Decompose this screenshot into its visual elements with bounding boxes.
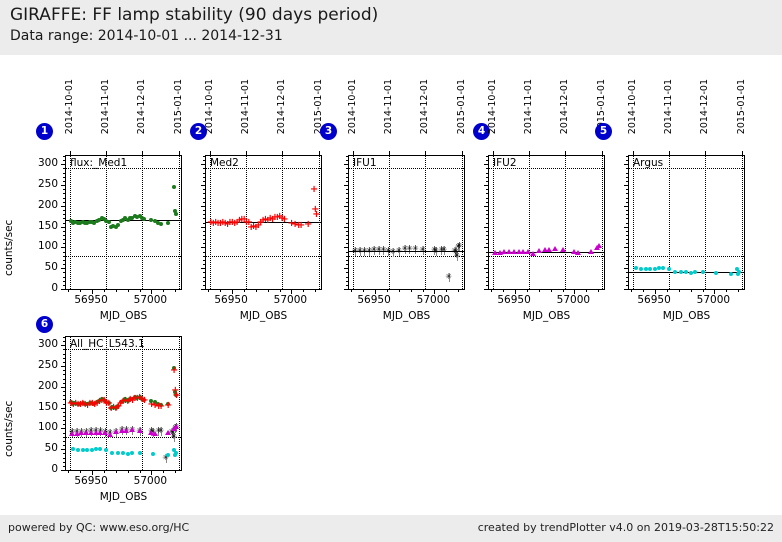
axis-minor-tick: [63, 408, 65, 409]
axis-minor-tick: [486, 260, 488, 261]
axis-minor-tick: [63, 416, 65, 417]
panel-badge-5[interactable]: 5: [595, 123, 612, 140]
value-gridline: [66, 437, 181, 438]
axis-minor-tick: [163, 471, 164, 473]
axis-minor-tick: [346, 185, 348, 186]
axis-minor-tick: [203, 168, 205, 169]
axis-minor-tick: [63, 181, 65, 182]
axis-minor-tick: [626, 223, 628, 224]
axis-minor-tick: [63, 156, 65, 157]
axis-minor-tick: [527, 290, 528, 292]
plot-label: Argus: [633, 157, 663, 169]
axis-minor-tick: [63, 441, 65, 442]
axis-minor-tick: [80, 290, 81, 292]
axis-minor-tick: [203, 243, 205, 244]
data-point: [166, 221, 170, 225]
date-gridline: [529, 156, 530, 289]
axis-minor-tick: [346, 206, 348, 207]
axis-minor-tick: [104, 290, 105, 292]
axis-minor-tick: [486, 193, 488, 194]
axis-minor-tick: [626, 260, 628, 261]
data-point: [639, 267, 643, 271]
axis-minor-tick: [315, 290, 316, 292]
axis-minor-tick: [163, 290, 164, 292]
date-gridline: [389, 156, 390, 289]
axis-tick: [425, 151, 426, 155]
date-gridline: [179, 156, 180, 289]
axis-minor-tick: [63, 198, 65, 199]
data-point: [138, 451, 142, 455]
axis-minor-tick: [626, 272, 628, 273]
y-tick-label: 300: [25, 338, 58, 350]
axis-minor-tick: [626, 239, 628, 240]
date-gridline: [705, 156, 706, 289]
axis-minor-tick: [486, 281, 488, 282]
data-point: [110, 451, 114, 455]
data-point: ✳: [170, 433, 178, 441]
axis-minor-tick: [92, 471, 93, 473]
x-tick-label: 56950: [206, 294, 256, 306]
data-point: [81, 448, 85, 452]
axis-minor-tick: [203, 281, 205, 282]
axis-minor-tick: [203, 202, 205, 203]
axis-minor-tick: [63, 231, 65, 232]
data-point: [151, 452, 155, 456]
axis-minor-tick: [203, 260, 205, 261]
axis-minor-tick: [346, 277, 348, 278]
axis-minor-tick: [63, 449, 65, 450]
axis-minor-tick: [63, 466, 65, 467]
axis-minor-tick: [63, 399, 65, 400]
axis-minor-tick: [63, 341, 65, 342]
date-gridline: [565, 156, 566, 289]
axis-minor-tick: [63, 404, 65, 405]
axis-minor-tick: [346, 289, 348, 290]
axis-minor-tick: [346, 260, 348, 261]
axis-minor-tick: [346, 198, 348, 199]
axis-minor-tick: [63, 285, 65, 286]
axis-minor-tick: [346, 189, 348, 190]
value-gridline: [206, 256, 321, 257]
axis-minor-tick: [63, 168, 65, 169]
x-tick-label: 57000: [408, 294, 458, 306]
axis-tick: [70, 151, 71, 155]
axis-minor-tick: [63, 247, 65, 248]
axis-minor-tick: [486, 189, 488, 190]
date-tick-label: 2014-12-01: [419, 79, 430, 134]
axis-minor-tick: [346, 264, 348, 265]
plot-area-Argus[interactable]: Argus: [628, 155, 745, 290]
y-tick-label: 250: [25, 178, 58, 190]
x-tick-label: 57000: [125, 294, 175, 306]
axis-minor-tick: [280, 290, 281, 292]
data-point: [575, 250, 581, 255]
date-tick-label: 2014-10-01: [347, 79, 358, 134]
data-point: [85, 448, 89, 452]
y-tick-label: 100: [25, 240, 58, 252]
axis-minor-tick: [63, 227, 65, 228]
data-point: ✳: [455, 242, 463, 250]
axis-minor-tick: [631, 290, 632, 292]
axis-minor-tick: [626, 218, 628, 219]
y-tick-label: 150: [25, 401, 58, 413]
axis-minor-tick: [346, 210, 348, 211]
date-gridline: [742, 156, 743, 289]
date-tick-label: 2014-10-01: [487, 79, 498, 134]
axis-minor-tick: [626, 281, 628, 282]
axis-minor-tick: [486, 231, 488, 232]
axis-minor-tick: [63, 264, 65, 265]
axis-minor-tick: [291, 290, 292, 292]
axis-minor-tick: [63, 366, 65, 367]
data-point: [701, 270, 705, 274]
data-point: +: [172, 392, 180, 400]
axis-minor-tick: [63, 277, 65, 278]
axis-minor-tick: [63, 383, 65, 384]
plot-label: flux:_Med1: [70, 157, 127, 169]
axis-minor-tick: [346, 177, 348, 178]
y-tick-label: 250: [25, 359, 58, 371]
axis-minor-tick: [586, 290, 587, 292]
axis-tick: [602, 151, 603, 155]
axis-minor-tick: [63, 470, 65, 471]
axis-minor-tick: [68, 290, 69, 292]
axis-minor-tick: [203, 193, 205, 194]
plot-label: IFU1: [353, 157, 377, 169]
axis-minor-tick: [626, 289, 628, 290]
data-point: [173, 424, 179, 429]
axis-minor-tick: [63, 173, 65, 174]
axis-minor-tick: [104, 471, 105, 473]
axis-minor-tick: [626, 173, 628, 174]
axis-minor-tick: [63, 395, 65, 396]
axis-minor-tick: [486, 206, 488, 207]
x-tick-label: 56950: [489, 294, 539, 306]
axis-minor-tick: [626, 227, 628, 228]
plot-label: IFU2: [493, 157, 517, 169]
axis-minor-tick: [346, 281, 348, 282]
axis-minor-tick: [63, 370, 65, 371]
axis-minor-tick: [486, 227, 488, 228]
date-tick-label: 2014-11-01: [240, 79, 251, 134]
axis-minor-tick: [203, 185, 205, 186]
axis-minor-tick: [346, 202, 348, 203]
y-tick-label: 0: [25, 463, 58, 475]
axis-minor-tick: [63, 420, 65, 421]
axis-tick: [353, 151, 354, 155]
axis-minor-tick: [63, 210, 65, 211]
date-gridline: [462, 156, 463, 289]
value-gridline: [629, 256, 744, 257]
data-point: [71, 447, 75, 451]
axis-minor-tick: [667, 290, 668, 292]
axis-minor-tick: [63, 260, 65, 261]
axis-minor-tick: [551, 290, 552, 292]
data-point: [126, 452, 130, 456]
axis-minor-tick: [63, 239, 65, 240]
axis-minor-tick: [486, 247, 488, 248]
axis-minor-tick: [626, 252, 628, 253]
x-axis-title: MJD_OBS: [618, 310, 755, 322]
plot-label: All_HC_L543.1: [70, 338, 145, 350]
panel-badge-6[interactable]: 6: [36, 316, 53, 333]
axis-minor-tick: [486, 285, 488, 286]
axis-minor-tick: [375, 290, 376, 292]
axis-minor-tick: [63, 223, 65, 224]
data-point: [98, 447, 102, 451]
axis-minor-tick: [203, 277, 205, 278]
date-gridline: [425, 156, 426, 289]
axis-minor-tick: [63, 391, 65, 392]
data-point: [552, 246, 558, 251]
data-point: [104, 448, 108, 452]
axis-minor-tick: [63, 424, 65, 425]
axis-minor-tick: [203, 218, 205, 219]
axis-minor-tick: [626, 277, 628, 278]
axis-minor-tick: [203, 156, 205, 157]
axis-minor-tick: [63, 272, 65, 273]
y-axis-title: counts/sec: [3, 173, 15, 276]
plot-area-IFU1[interactable]: IFU1✳✳✳✳✳✳✳✳✳✳✳✳✳✳✳✳✳✳✳✳✳✳✳✳: [348, 155, 465, 290]
axis-minor-tick: [486, 218, 488, 219]
axis-minor-tick: [63, 453, 65, 454]
x-tick-label: 57000: [265, 294, 315, 306]
axis-minor-tick: [63, 362, 65, 363]
axis-minor-tick: [203, 189, 205, 190]
axis-tick: [246, 151, 247, 155]
axis-minor-tick: [486, 168, 488, 169]
axis-minor-tick: [626, 193, 628, 194]
axis-minor-tick: [63, 256, 65, 257]
data-point: [648, 267, 652, 271]
date-tick-label: 2014-12-01: [559, 79, 570, 134]
axis-minor-tick: [714, 290, 715, 292]
axis-minor-tick: [63, 206, 65, 207]
data-point: [657, 266, 661, 270]
data-point: [684, 270, 688, 274]
axis-minor-tick: [63, 268, 65, 269]
axis-minor-tick: [515, 290, 516, 292]
axis-minor-tick: [486, 268, 488, 269]
data-point: [714, 271, 718, 275]
axis-minor-tick: [63, 177, 65, 178]
axis-minor-tick: [626, 181, 628, 182]
y-tick-label: 0: [25, 282, 58, 294]
data-point: [644, 267, 648, 271]
axis-minor-tick: [598, 290, 599, 292]
data-point: [116, 451, 120, 455]
axis-minor-tick: [63, 214, 65, 215]
axis-minor-tick: [256, 290, 257, 292]
axis-minor-tick: [151, 471, 152, 473]
data-point: [152, 431, 158, 436]
y-tick-label: 300: [25, 157, 58, 169]
axis-minor-tick: [679, 290, 680, 292]
axis-minor-tick: [128, 290, 129, 292]
plot-area-flux:_Med1[interactable]: flux:_Med1: [65, 155, 182, 290]
page-subtitle: Data range: 2014-10-01 ... 2014-12-31: [10, 28, 283, 44]
axis-minor-tick: [346, 173, 348, 174]
data-point: [172, 185, 176, 189]
axis-minor-tick: [486, 202, 488, 203]
axis-minor-tick: [303, 290, 304, 292]
axis-tick: [462, 151, 463, 155]
data-point: [166, 453, 170, 457]
data-point: [137, 428, 143, 433]
axis-minor-tick: [486, 181, 488, 182]
axis-minor-tick: [434, 290, 435, 292]
axis-tick: [705, 151, 706, 155]
axis-minor-tick: [486, 277, 488, 278]
axis-minor-tick: [116, 471, 117, 473]
axis-minor-tick: [626, 268, 628, 269]
footer-credit-right: created by trendPlotter v4.0 on 2019-03-…: [478, 521, 774, 534]
axis-tick: [282, 151, 283, 155]
axis-minor-tick: [63, 433, 65, 434]
axis-minor-tick: [63, 374, 65, 375]
data-point: [76, 448, 80, 452]
axis-minor-tick: [486, 272, 488, 273]
x-tick-label: 56950: [629, 294, 679, 306]
axis-minor-tick: [63, 387, 65, 388]
axis-minor-tick: [643, 290, 644, 292]
axis-minor-tick: [203, 181, 205, 182]
x-tick-label: 57000: [548, 294, 598, 306]
axis-minor-tick: [346, 247, 348, 248]
axis-minor-tick: [346, 223, 348, 224]
data-point: ✳: [445, 273, 453, 281]
x-axis-title: MJD_OBS: [55, 310, 192, 322]
date-tick-label: 2014-11-01: [100, 79, 111, 134]
data-point: [679, 270, 683, 274]
axis-minor-tick: [486, 264, 488, 265]
axis-minor-tick: [63, 189, 65, 190]
x-tick-label: 56950: [66, 475, 116, 487]
date-tick-label: 2015-01-01: [173, 79, 184, 134]
axis-minor-tick: [203, 247, 205, 248]
y-tick-label: 50: [25, 442, 58, 454]
axis-tick: [179, 151, 180, 155]
plot-area-All_HC_L543.1[interactable]: All_HC_L543.1+++++++++++++++++++++++++++…: [65, 336, 182, 471]
axis-minor-tick: [203, 256, 205, 257]
date-tick-label: 2014-12-01: [699, 79, 710, 134]
axis-minor-tick: [626, 210, 628, 211]
axis-minor-tick: [346, 156, 348, 157]
date-tick-label: 2015-01-01: [736, 79, 747, 134]
date-gridline: [602, 156, 603, 289]
axis-minor-tick: [539, 290, 540, 292]
axis-minor-tick: [486, 198, 488, 199]
axis-tick: [565, 151, 566, 155]
axis-minor-tick: [655, 290, 656, 292]
axis-minor-tick: [626, 189, 628, 190]
axis-minor-tick: [346, 181, 348, 182]
x-axis-title: MJD_OBS: [478, 310, 615, 322]
axis-minor-tick: [63, 202, 65, 203]
axis-minor-tick: [63, 160, 65, 161]
x-tick-label: 56950: [66, 294, 116, 306]
axis-minor-tick: [626, 202, 628, 203]
axis-minor-tick: [446, 290, 447, 292]
axis-tick: [529, 151, 530, 155]
plot-area-IFU2[interactable]: IFU2: [488, 155, 605, 290]
axis-minor-tick: [563, 290, 564, 292]
data-point: ✳: [453, 252, 461, 260]
axis-minor-tick: [346, 160, 348, 161]
panel-badge-1[interactable]: 1: [36, 123, 53, 140]
axis-minor-tick: [175, 471, 176, 473]
axis-minor-tick: [626, 185, 628, 186]
axis-minor-tick: [63, 235, 65, 236]
date-tick-label: 2014-10-01: [64, 79, 75, 134]
axis-tick: [319, 151, 320, 155]
axis-minor-tick: [63, 185, 65, 186]
axis-minor-tick: [346, 268, 348, 269]
axis-minor-tick: [203, 285, 205, 286]
data-point: +: [170, 367, 178, 375]
axis-minor-tick: [626, 235, 628, 236]
axis-minor-tick: [626, 160, 628, 161]
axis-minor-tick: [140, 290, 141, 292]
axis-minor-tick: [486, 160, 488, 161]
axis-minor-tick: [351, 290, 352, 292]
axis-minor-tick: [128, 471, 129, 473]
data-point: [689, 271, 693, 275]
axis-minor-tick: [486, 185, 488, 186]
axis-minor-tick: [726, 290, 727, 292]
axis-minor-tick: [486, 235, 488, 236]
data-point: +: [312, 211, 320, 219]
axis-minor-tick: [203, 210, 205, 211]
axis-minor-tick: [486, 156, 488, 157]
axis-minor-tick: [458, 290, 459, 292]
x-tick-label: 57000: [125, 475, 175, 487]
data-point: ✳: [419, 246, 427, 254]
axis-minor-tick: [63, 193, 65, 194]
axis-minor-tick: [486, 210, 488, 211]
axis-minor-tick: [63, 354, 65, 355]
plot-area-Med2[interactable]: Med2++++++++++++++++++++++++++++++++++++…: [205, 155, 322, 290]
axis-minor-tick: [346, 231, 348, 232]
axis-minor-tick: [220, 290, 221, 292]
date-tick-label: 2014-11-01: [383, 79, 394, 134]
y-tick-label: 50: [25, 261, 58, 273]
plot-label: Med2: [210, 157, 239, 169]
data-point: [634, 266, 638, 270]
axis-minor-tick: [203, 164, 205, 165]
axis-minor-tick: [63, 428, 65, 429]
axis-minor-tick: [151, 290, 152, 292]
data-point: [107, 220, 111, 224]
data-point: [661, 266, 665, 270]
footer-credit-left: powered by QC: www.eso.org/HC: [8, 521, 189, 534]
axis-minor-tick: [491, 290, 492, 292]
axis-minor-tick: [626, 231, 628, 232]
data-point: [116, 223, 120, 227]
axis-minor-tick: [486, 164, 488, 165]
axis-minor-tick: [626, 243, 628, 244]
value-gridline: [349, 256, 464, 257]
axis-tick: [210, 151, 211, 155]
date-gridline: [353, 156, 354, 289]
data-point: +: [164, 402, 172, 410]
axis-minor-tick: [346, 193, 348, 194]
axis-minor-tick: [140, 471, 141, 473]
x-tick-label: 56950: [349, 294, 399, 306]
axis-minor-tick: [346, 285, 348, 286]
axis-minor-tick: [574, 290, 575, 292]
panel-badge-3[interactable]: 3: [320, 123, 337, 140]
